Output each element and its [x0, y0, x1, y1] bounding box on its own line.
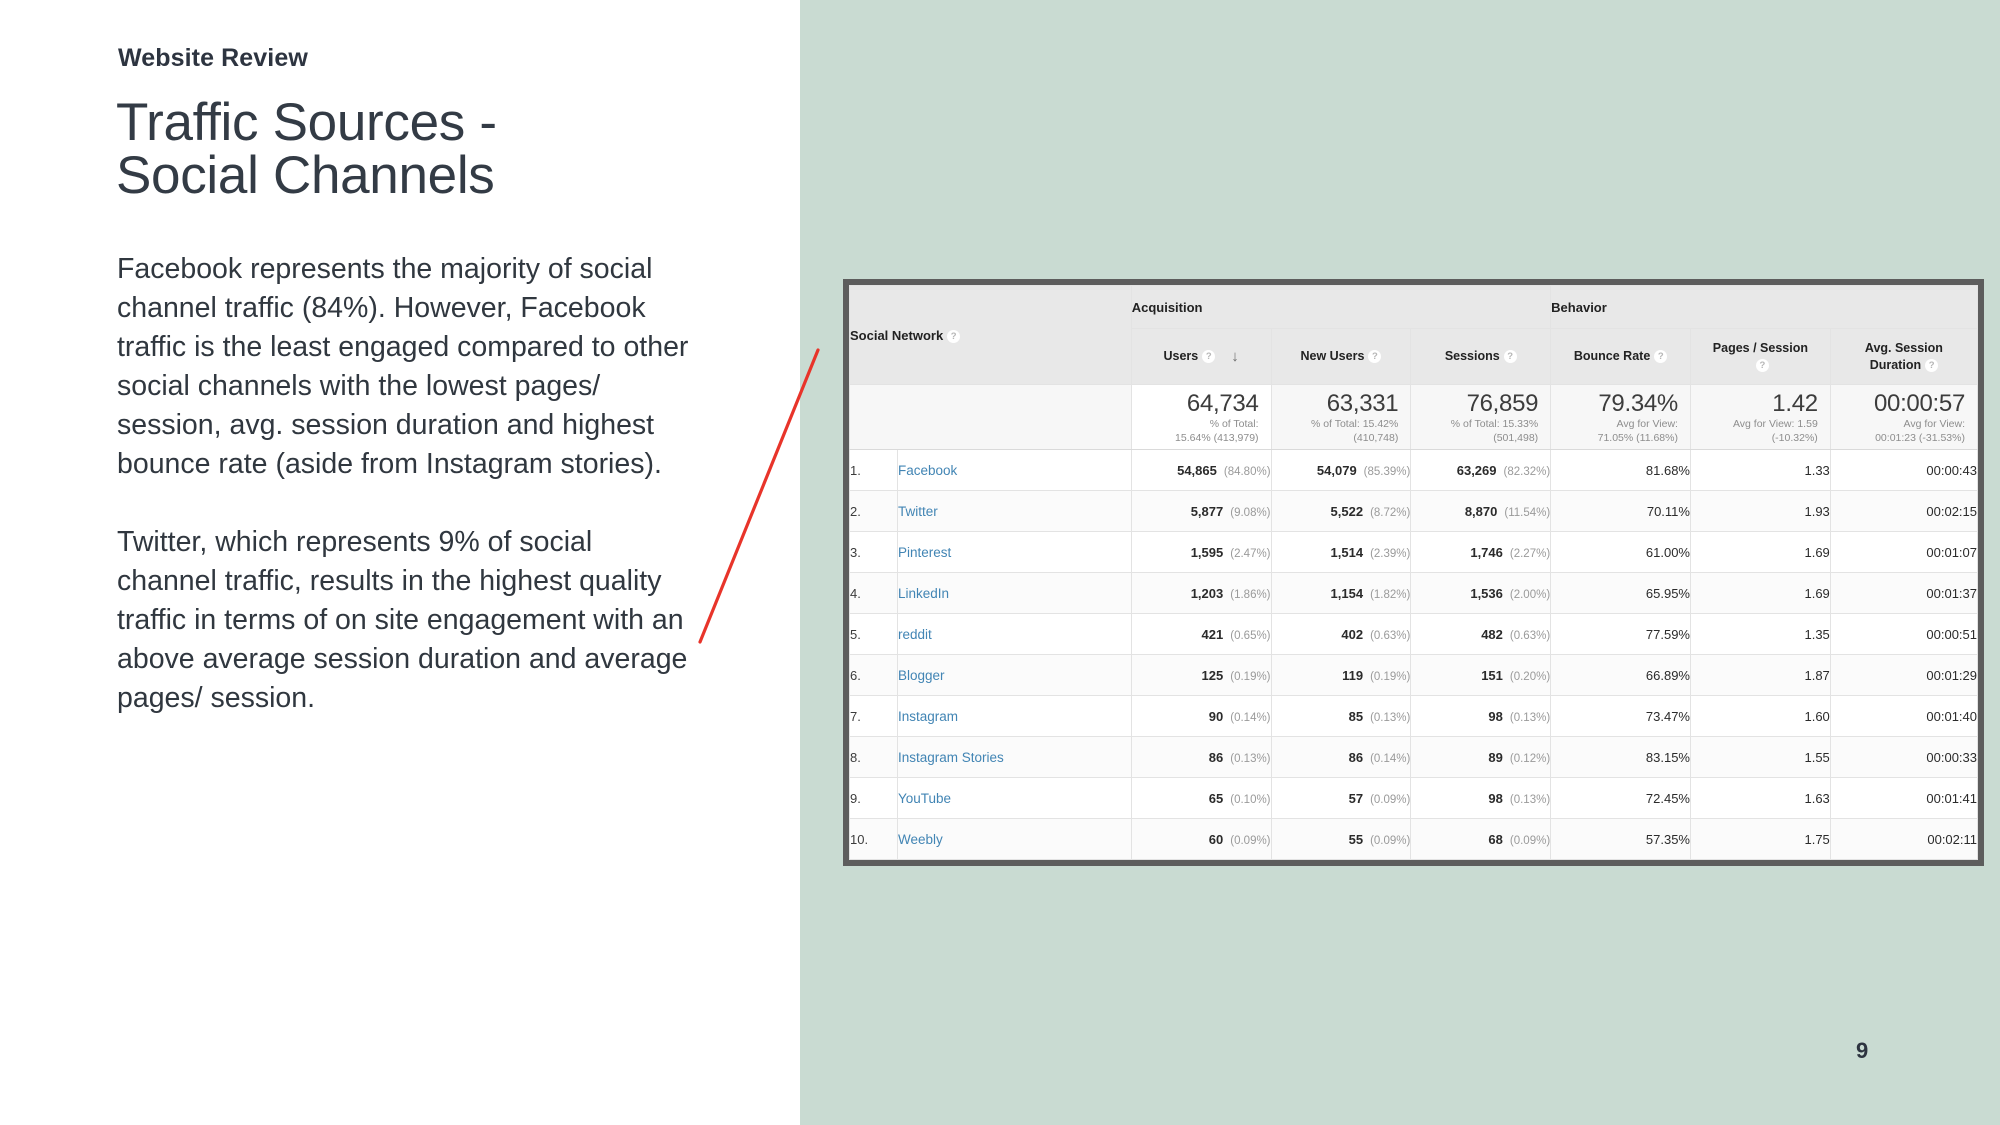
column-header-users-label: Users: [1164, 349, 1199, 363]
cell-bounce-rate: 83.15%: [1551, 737, 1691, 778]
row-index: 4.: [850, 573, 898, 614]
table-row: 6.Blogger125(0.19%)119(0.19%)151(0.20%)6…: [850, 655, 1978, 696]
summary-cell-sessions: 76,859 % of Total: 15.33% (501,498): [1411, 385, 1551, 450]
help-icon[interactable]: ?: [1368, 350, 1381, 363]
network-link[interactable]: Instagram Stories: [898, 750, 1004, 765]
cell-sessions: 151(0.20%): [1411, 655, 1551, 696]
cell-sessions: 8,870(11.54%): [1411, 491, 1551, 532]
cell-bounce-rate: 66.89%: [1551, 655, 1691, 696]
row-index: 10.: [850, 819, 898, 860]
cell-avg-session-duration: 00:01:37: [1830, 573, 1977, 614]
cell-sessions: 98(0.13%): [1411, 696, 1551, 737]
cell-users: 5,877(9.08%): [1131, 491, 1271, 532]
table-row: 3.Pinterest1,595(2.47%)1,514(2.39%)1,746…: [850, 532, 1978, 573]
slide-canvas: Website Review Traffic Sources - Social …: [0, 0, 2000, 1125]
summary-cell-avg-session-duration: 00:00:57 Avg for View: 00:01:23 (-31.53%…: [1830, 385, 1977, 450]
column-group-dimension[interactable]: Social Network?: [850, 286, 1132, 385]
cell-pages-session: 1.69: [1690, 532, 1830, 573]
cell-users: 125(0.19%): [1131, 655, 1271, 696]
summary-avg-session-duration-value: 00:00:57: [1837, 390, 1965, 417]
column-header-new-users[interactable]: New Users?: [1271, 329, 1411, 385]
help-icon[interactable]: ?: [947, 330, 960, 343]
summary-sessions-note-2: (501,498): [1417, 432, 1538, 445]
summary-blank-cell: [850, 385, 1132, 450]
cell-sessions: 1,746(2.27%): [1411, 532, 1551, 573]
column-header-sessions-label: Sessions: [1445, 349, 1500, 363]
row-index: 6.: [850, 655, 898, 696]
help-icon[interactable]: ?: [1504, 350, 1517, 363]
column-header-new-users-label: New Users: [1300, 349, 1364, 363]
body-paragraph-2: Twitter, which represents 9% of social c…: [117, 523, 697, 718]
cell-new-users: 54,079(85.39%): [1271, 450, 1411, 491]
page-title-line-2: Social Channels: [116, 149, 736, 202]
column-header-sessions[interactable]: Sessions?: [1411, 329, 1551, 385]
cell-avg-session-duration: 00:02:15: [1830, 491, 1977, 532]
network-link[interactable]: Facebook: [898, 463, 957, 478]
row-index: 1.: [850, 450, 898, 491]
cell-avg-session-duration: 00:02:11: [1830, 819, 1977, 860]
cell-bounce-rate: 61.00%: [1551, 532, 1691, 573]
cell-new-users: 119(0.19%): [1271, 655, 1411, 696]
network-link[interactable]: Instagram: [898, 709, 958, 724]
row-network-name[interactable]: YouTube: [897, 778, 1131, 819]
cell-new-users: 57(0.09%): [1271, 778, 1411, 819]
summary-sessions-value: 76,859: [1417, 390, 1538, 417]
table-group-header-row: Social Network? Acquisition Behavior: [850, 286, 1978, 329]
cell-new-users: 55(0.09%): [1271, 819, 1411, 860]
cell-pages-session: 1.35: [1690, 614, 1830, 655]
cell-new-users: 86(0.14%): [1271, 737, 1411, 778]
column-group-behavior: Behavior: [1551, 286, 1978, 329]
cell-avg-session-duration: 00:01:41: [1830, 778, 1977, 819]
help-icon[interactable]: ?: [1202, 350, 1215, 363]
summary-new-users-note-1: % of Total: 15.42%: [1278, 418, 1399, 431]
row-network-name[interactable]: Weebly: [897, 819, 1131, 860]
column-group-acquisition: Acquisition: [1131, 286, 1550, 329]
summary-users-value: 64,734: [1138, 390, 1259, 417]
cell-pages-session: 1.87: [1690, 655, 1830, 696]
summary-bounce-rate-note-1: Avg for View:: [1557, 418, 1678, 431]
column-header-avg-session-duration-label-b: Duration: [1870, 358, 1921, 372]
body-copy: Facebook represents the majority of soci…: [117, 250, 697, 718]
summary-avg-session-duration-note-2: 00:01:23 (-31.53%): [1837, 432, 1965, 445]
column-header-users[interactable]: Users?↓: [1131, 329, 1271, 385]
table-body: 1.Facebook54,865(84.80%)54,079(85.39%)63…: [850, 450, 1978, 860]
row-network-name[interactable]: LinkedIn: [897, 573, 1131, 614]
summary-pages-session-value: 1.42: [1697, 390, 1818, 417]
behavior-group-label: Behavior: [1551, 300, 1607, 315]
cell-users: 60(0.09%): [1131, 819, 1271, 860]
row-network-name[interactable]: Instagram Stories: [897, 737, 1131, 778]
cell-avg-session-duration: 00:00:43: [1830, 450, 1977, 491]
cell-users: 90(0.14%): [1131, 696, 1271, 737]
cell-pages-session: 1.63: [1690, 778, 1830, 819]
summary-cell-new-users: 63,331 % of Total: 15.42% (410,748): [1271, 385, 1411, 450]
network-link[interactable]: Pinterest: [898, 545, 951, 560]
cell-pages-session: 1.55: [1690, 737, 1830, 778]
row-index: 9.: [850, 778, 898, 819]
cell-new-users: 402(0.63%): [1271, 614, 1411, 655]
table-row: 1.Facebook54,865(84.80%)54,079(85.39%)63…: [850, 450, 1978, 491]
page-title-line-1: Traffic Sources -: [116, 96, 736, 149]
cell-sessions: 482(0.63%): [1411, 614, 1551, 655]
help-icon[interactable]: ?: [1925, 359, 1938, 372]
cell-pages-session: 1.33: [1690, 450, 1830, 491]
row-index: 5.: [850, 614, 898, 655]
table-row: 9.YouTube65(0.10%)57(0.09%)98(0.13%)72.4…: [850, 778, 1978, 819]
cell-avg-session-duration: 00:01:07: [1830, 532, 1977, 573]
page-title: Traffic Sources - Social Channels: [116, 96, 736, 202]
help-icon[interactable]: ?: [1756, 359, 1769, 372]
sort-descending-icon[interactable]: ↓: [1231, 348, 1239, 365]
network-link[interactable]: Weebly: [898, 832, 943, 847]
analytics-table-frame: Social Network? Acquisition Behavior Use…: [843, 279, 1984, 866]
table-row: 5.reddit421(0.65%)402(0.63%)482(0.63%)77…: [850, 614, 1978, 655]
cell-sessions: 68(0.09%): [1411, 819, 1551, 860]
cell-new-users: 85(0.13%): [1271, 696, 1411, 737]
slide-eyebrow: Website Review: [118, 44, 308, 73]
cell-pages-session: 1.60: [1690, 696, 1830, 737]
cell-pages-session: 1.75: [1690, 819, 1830, 860]
row-network-name[interactable]: Instagram: [897, 696, 1131, 737]
row-network-name[interactable]: Twitter: [897, 491, 1131, 532]
summary-users-note-1: % of Total:: [1138, 418, 1259, 431]
dimension-header-label: Social Network: [850, 328, 943, 343]
cell-avg-session-duration: 00:01:40: [1830, 696, 1977, 737]
cell-avg-session-duration: 00:00:33: [1830, 737, 1977, 778]
acquisition-group-label: Acquisition: [1132, 300, 1203, 315]
summary-bounce-rate-value: 79.34%: [1557, 390, 1678, 417]
column-header-bounce-rate[interactable]: Bounce Rate?: [1551, 329, 1691, 385]
summary-cell-users: 64,734 % of Total: 15.64% (413,979): [1131, 385, 1271, 450]
cell-new-users: 1,154(1.82%): [1271, 573, 1411, 614]
cell-pages-session: 1.69: [1690, 573, 1830, 614]
cell-bounce-rate: 81.68%: [1551, 450, 1691, 491]
row-index: 3.: [850, 532, 898, 573]
cell-avg-session-duration: 00:00:51: [1830, 614, 1977, 655]
page-number: 9: [1856, 1038, 1868, 1064]
table-row: 2.Twitter5,877(9.08%)5,522(8.72%)8,870(1…: [850, 491, 1978, 532]
row-network-name[interactable]: Pinterest: [897, 532, 1131, 573]
row-index: 7.: [850, 696, 898, 737]
cell-avg-session-duration: 00:01:29: [1830, 655, 1977, 696]
social-network-table: Social Network? Acquisition Behavior Use…: [849, 285, 1978, 860]
cell-new-users: 1,514(2.39%): [1271, 532, 1411, 573]
cell-users: 1,203(1.86%): [1131, 573, 1271, 614]
column-header-avg-session-duration-label-a: Avg. Session: [1865, 341, 1943, 355]
row-network-name[interactable]: Facebook: [897, 450, 1131, 491]
column-header-avg-session-duration[interactable]: Avg. SessionDuration?: [1830, 329, 1977, 385]
network-link[interactable]: reddit: [898, 627, 932, 642]
cell-bounce-rate: 77.59%: [1551, 614, 1691, 655]
summary-users-note-2: 15.64% (413,979): [1138, 432, 1259, 445]
row-index: 2.: [850, 491, 898, 532]
table-summary-row: 64,734 % of Total: 15.64% (413,979) 63,3…: [850, 385, 1978, 450]
cell-new-users: 5,522(8.72%): [1271, 491, 1411, 532]
cell-users: 65(0.10%): [1131, 778, 1271, 819]
summary-new-users-value: 63,331: [1278, 390, 1399, 417]
summary-new-users-note-2: (410,748): [1278, 432, 1399, 445]
table-row: 10.Weebly60(0.09%)55(0.09%)68(0.09%)57.3…: [850, 819, 1978, 860]
row-network-name[interactable]: reddit: [897, 614, 1131, 655]
cell-sessions: 1,536(2.00%): [1411, 573, 1551, 614]
network-link[interactable]: YouTube: [898, 791, 951, 806]
cell-users: 421(0.65%): [1131, 614, 1271, 655]
network-link[interactable]: LinkedIn: [898, 586, 949, 601]
cell-users: 1,595(2.47%): [1131, 532, 1271, 573]
help-icon[interactable]: ?: [1654, 350, 1667, 363]
summary-pages-session-note-1: Avg for View: 1.59: [1697, 418, 1818, 431]
column-header-pages-session[interactable]: Pages / Session?: [1690, 329, 1830, 385]
cell-bounce-rate: 72.45%: [1551, 778, 1691, 819]
network-link[interactable]: Twitter: [898, 504, 938, 519]
column-header-pages-session-label: Pages / Session: [1713, 341, 1808, 355]
summary-cell-pages-session: 1.42 Avg for View: 1.59 (-10.32%): [1690, 385, 1830, 450]
cell-bounce-rate: 65.95%: [1551, 573, 1691, 614]
cell-bounce-rate: 70.11%: [1551, 491, 1691, 532]
cell-sessions: 63,269(82.32%): [1411, 450, 1551, 491]
cell-bounce-rate: 73.47%: [1551, 696, 1691, 737]
column-header-bounce-rate-label: Bounce Rate: [1574, 349, 1650, 363]
cell-sessions: 98(0.13%): [1411, 778, 1551, 819]
row-network-name[interactable]: Blogger: [897, 655, 1131, 696]
body-paragraph-1: Facebook represents the majority of soci…: [117, 250, 697, 484]
cell-bounce-rate: 57.35%: [1551, 819, 1691, 860]
summary-pages-session-note-2: (-10.32%): [1697, 432, 1818, 445]
cell-users: 86(0.13%): [1131, 737, 1271, 778]
table-row: 8.Instagram Stories86(0.13%)86(0.14%)89(…: [850, 737, 1978, 778]
table-row: 4.LinkedIn1,203(1.86%)1,154(1.82%)1,536(…: [850, 573, 1978, 614]
row-index: 8.: [850, 737, 898, 778]
table-row: 7.Instagram90(0.14%)85(0.13%)98(0.13%)73…: [850, 696, 1978, 737]
summary-sessions-note-1: % of Total: 15.33%: [1417, 418, 1538, 431]
summary-bounce-rate-note-2: 71.05% (11.68%): [1557, 432, 1678, 445]
cell-sessions: 89(0.12%): [1411, 737, 1551, 778]
summary-cell-bounce-rate: 79.34% Avg for View: 71.05% (11.68%): [1551, 385, 1691, 450]
cell-users: 54,865(84.80%): [1131, 450, 1271, 491]
cell-pages-session: 1.93: [1690, 491, 1830, 532]
summary-avg-session-duration-note-1: Avg for View:: [1837, 418, 1965, 431]
network-link[interactable]: Blogger: [898, 668, 945, 683]
